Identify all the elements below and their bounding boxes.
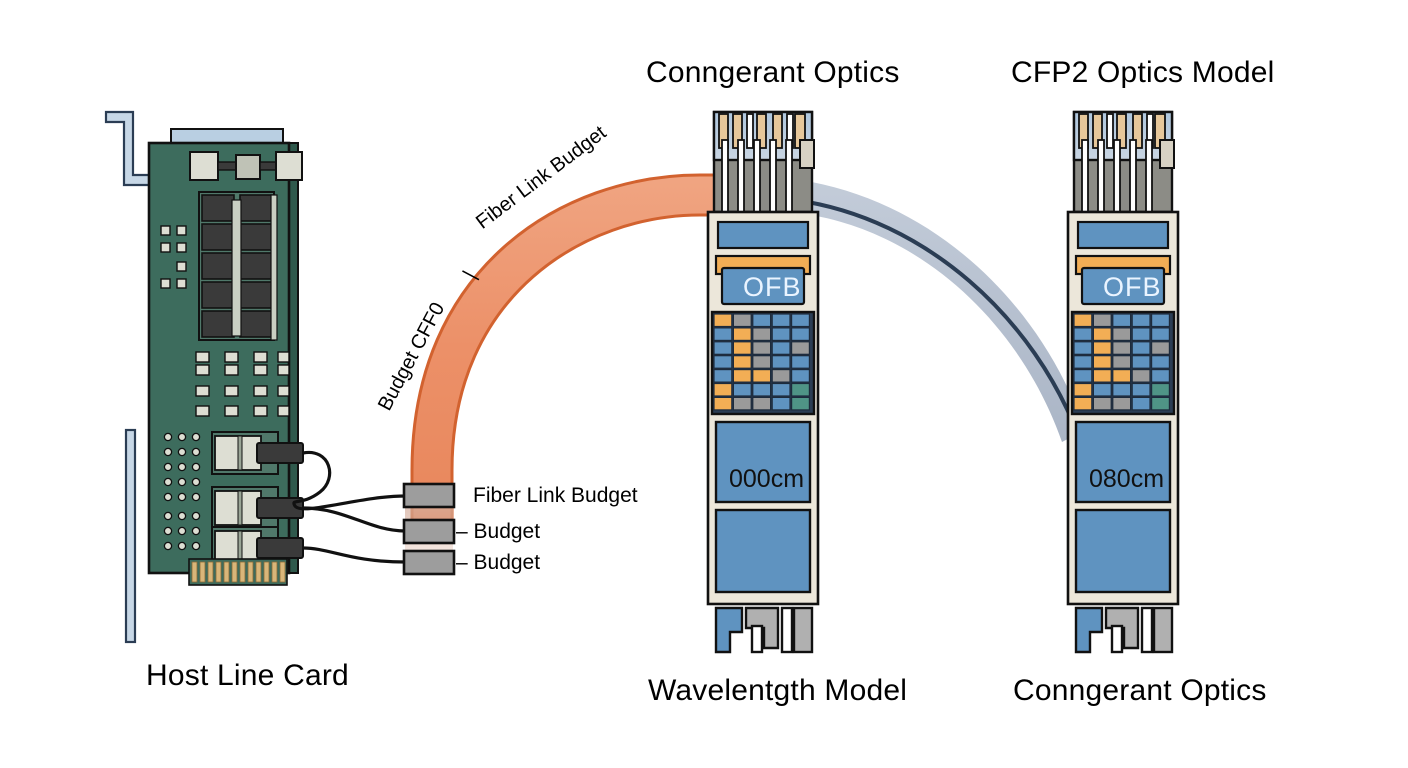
grid-cell (772, 384, 790, 397)
faceplate-bracket-top (106, 112, 152, 185)
grid-cell (1093, 356, 1111, 369)
title-middle-bottom: Wavelentgth Model (648, 674, 907, 708)
grid-cell (792, 328, 810, 341)
grid-cell (1113, 397, 1131, 410)
grid-cell (1074, 370, 1092, 383)
grid-cell (1113, 328, 1131, 341)
grid-cell (1113, 384, 1131, 397)
grid-cell (1132, 356, 1150, 369)
grid-cell (753, 356, 771, 369)
grid-cell (1132, 370, 1150, 383)
grid-cell (714, 328, 732, 341)
grid-cell (1093, 370, 1111, 383)
connector-tabs[interactable] (404, 484, 454, 574)
grid-cell (714, 356, 732, 369)
module-right-blank-block (1076, 510, 1170, 592)
grid-cell (792, 314, 810, 327)
module-middle-length-text: 000cm (729, 465, 804, 494)
connector-tab-3 (404, 551, 454, 574)
fiber-cable-orange (412, 175, 735, 520)
grid-cell (1074, 384, 1092, 397)
grid-cell (714, 314, 732, 327)
grid-cell (733, 314, 751, 327)
grid-cell (792, 356, 810, 369)
title-host-line-card: Host Line Card (146, 659, 349, 693)
host-line-card[interactable] (106, 112, 303, 642)
grid-cell (1113, 314, 1131, 327)
grid-cell (1074, 342, 1092, 355)
grid-cell (1093, 328, 1111, 341)
grid-cell (1113, 342, 1131, 355)
fiber-cable-gray (795, 180, 1085, 442)
grid-cell (753, 397, 771, 410)
grid-cell (753, 328, 771, 341)
diagram-canvas: Conngerant Optics CFP2 Optics Model Wave… (0, 0, 1408, 768)
pcb-chip-array (199, 192, 277, 340)
connector-label-2: – Budget (456, 520, 540, 544)
title-right-bottom: Conngerant Optics (1013, 674, 1267, 708)
grid-cell (733, 384, 751, 397)
pcb-top-components (190, 152, 302, 180)
connector-label-3: – Budget (456, 551, 540, 575)
module-right-bar (1078, 222, 1168, 248)
module-right[interactable] (1068, 112, 1178, 652)
module-right-base (1076, 608, 1172, 652)
grid-cell (1074, 397, 1092, 410)
grid-cell (733, 328, 751, 341)
grid-cell (733, 356, 751, 369)
grid-cell (1152, 314, 1170, 327)
module-middle-bar (718, 222, 808, 248)
diagram-artwork (0, 0, 1408, 768)
grid-cell (1132, 384, 1150, 397)
grid-cell (753, 342, 771, 355)
grid-cell (792, 370, 810, 383)
grid-cell (772, 370, 790, 383)
grid-cell (1152, 328, 1170, 341)
grid-cell (1113, 370, 1131, 383)
patch-cables (294, 452, 405, 562)
gold-edge-connector (189, 559, 287, 585)
grid-cell (1152, 384, 1170, 397)
module-right-grid (1074, 314, 1169, 410)
grid-cell (1093, 397, 1111, 410)
grid-cell (1113, 356, 1131, 369)
grid-cell (772, 314, 790, 327)
grid-cell (1132, 314, 1150, 327)
connector-label-1: Fiber Link Budget (473, 484, 638, 508)
grid-cell (792, 384, 810, 397)
grid-cell (772, 328, 790, 341)
grid-cell (733, 342, 751, 355)
grid-cell (1074, 356, 1092, 369)
module-middle[interactable] (708, 112, 818, 652)
grid-cell (1152, 356, 1170, 369)
grid-cell (733, 397, 751, 410)
grid-cell (772, 397, 790, 410)
grid-cell (1132, 397, 1150, 410)
faceplate-bracket-bottom (126, 430, 135, 642)
module-right-connector (1074, 112, 1174, 212)
grid-cell (792, 342, 810, 355)
title-middle-top: Conngerant Optics (646, 56, 900, 90)
grid-cell (1152, 370, 1170, 383)
grid-cell (753, 370, 771, 383)
grid-cell (1093, 342, 1111, 355)
grid-cell (1152, 342, 1170, 355)
grid-cell (1152, 397, 1170, 410)
grid-cell (1093, 314, 1111, 327)
grid-cell (772, 356, 790, 369)
card-top-strip (171, 129, 283, 143)
grid-cell (733, 370, 751, 383)
grid-cell (753, 314, 771, 327)
connector-tab-1 (404, 484, 454, 507)
grid-cell (792, 397, 810, 410)
grid-cell (714, 370, 732, 383)
grid-cell (753, 384, 771, 397)
module-middle-connector (714, 112, 814, 212)
grid-cell (1132, 342, 1150, 355)
grid-cell (714, 384, 732, 397)
grid-cell (714, 397, 732, 410)
module-right-length-text: 080cm (1089, 465, 1164, 494)
grid-cell (1132, 328, 1150, 341)
module-middle-grid (714, 314, 809, 410)
grid-cell (1093, 384, 1111, 397)
module-right-display-text: OFB (1103, 272, 1162, 303)
grid-cell (1074, 314, 1092, 327)
module-middle-base (716, 608, 812, 652)
module-middle-blank-block (716, 510, 810, 592)
module-middle-display-text: OFB (743, 272, 802, 303)
connector-tab-2 (404, 520, 454, 543)
grid-cell (714, 342, 732, 355)
title-right-top: CFP2 Optics Model (1011, 56, 1274, 90)
grid-cell (1074, 328, 1092, 341)
grid-cell (772, 342, 790, 355)
